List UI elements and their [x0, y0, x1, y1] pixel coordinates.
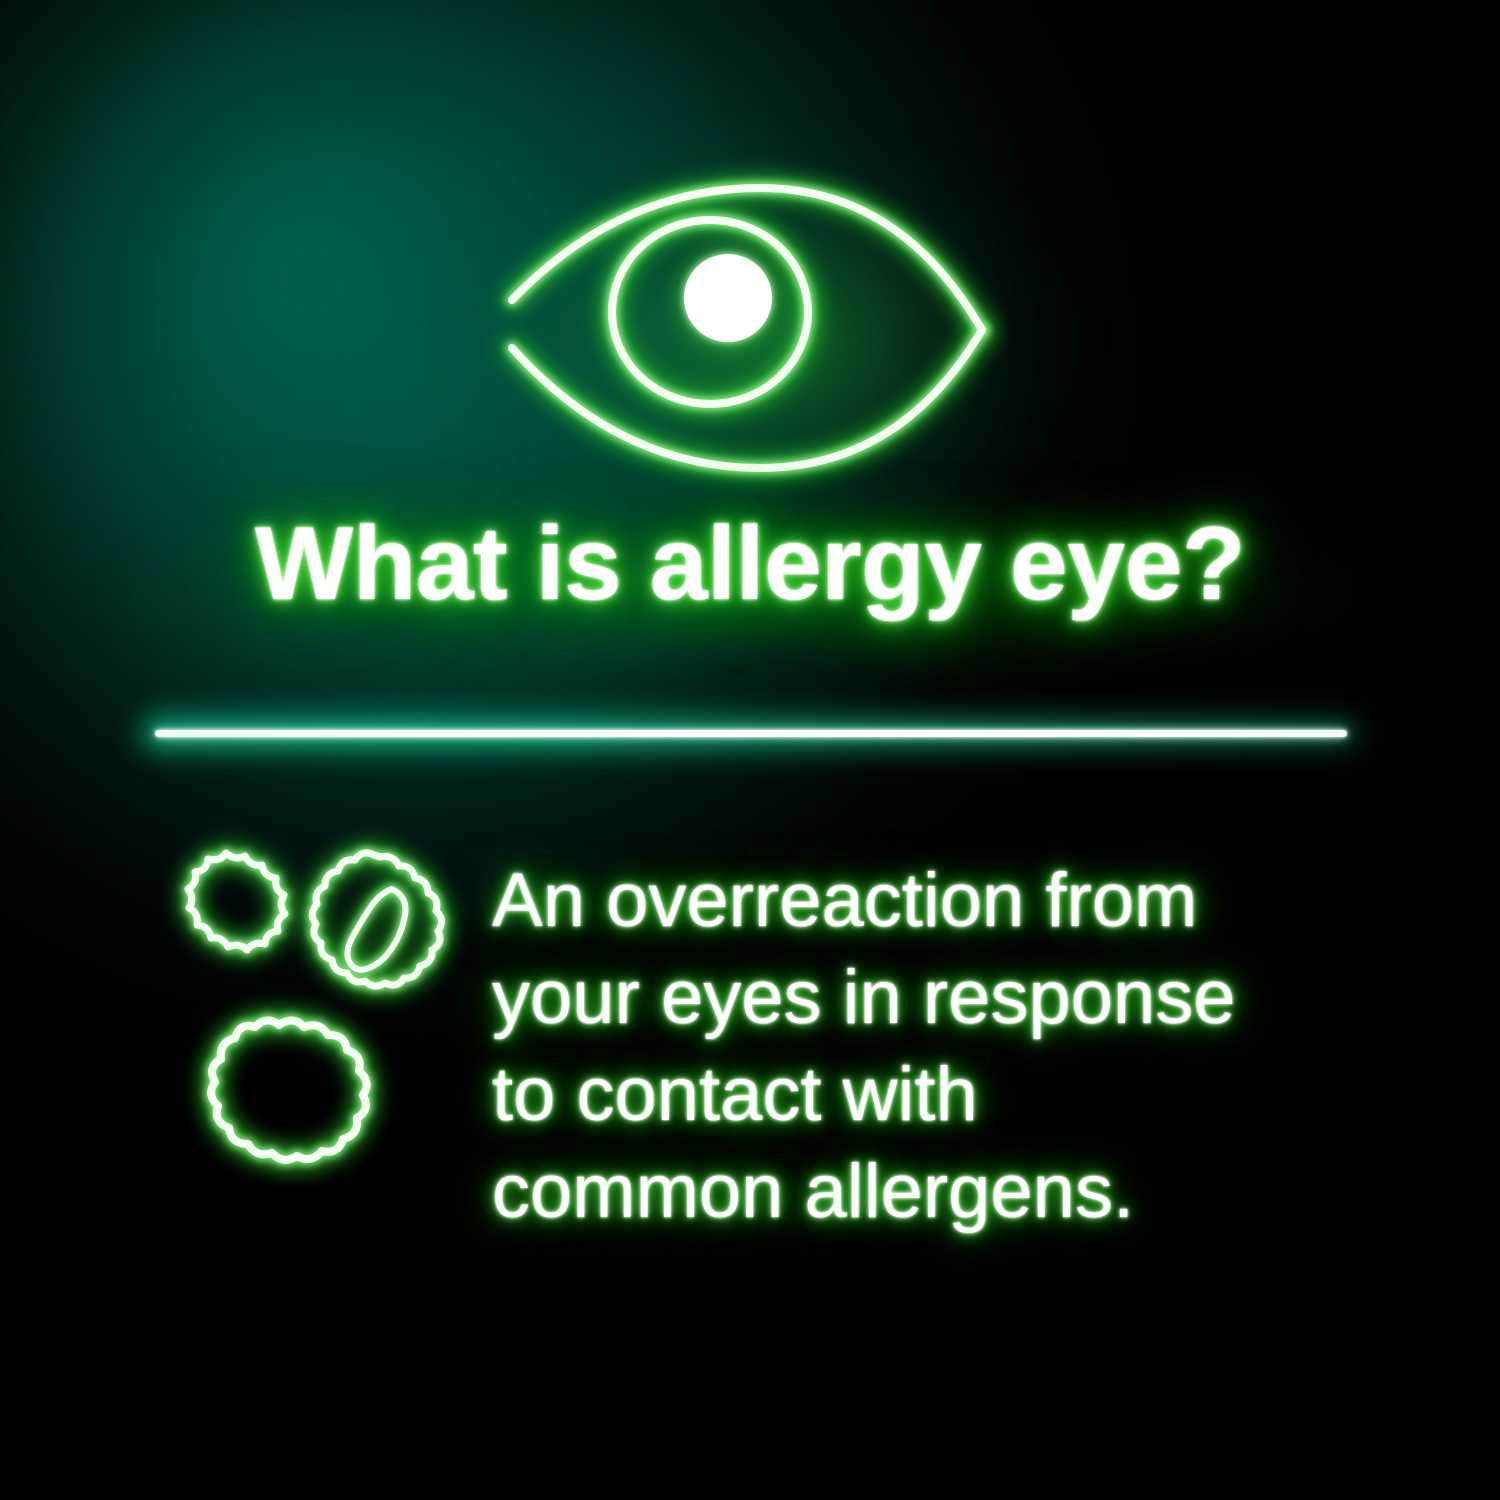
body-text: An overreaction from your eyes in respon… — [492, 852, 1392, 1240]
eye-icon — [470, 180, 1050, 480]
neon-divider-rule — [155, 726, 1347, 740]
page-title: What is allergy eye? — [0, 512, 1500, 616]
microbes-core-stroke — [188, 853, 442, 1160]
allergen-microbes-icon — [148, 845, 468, 1220]
body-line-3: to contact with — [492, 1046, 1392, 1143]
wavy-star-blob-icon — [211, 1020, 367, 1159]
divider-core — [155, 730, 1347, 737]
body-line-1: An overreaction from — [492, 852, 1392, 949]
body-line-2: your eyes in response — [492, 949, 1392, 1046]
body-line-4: common allergens. — [492, 1143, 1392, 1240]
infographic-card: What is allergy eye? — [0, 0, 1500, 1500]
